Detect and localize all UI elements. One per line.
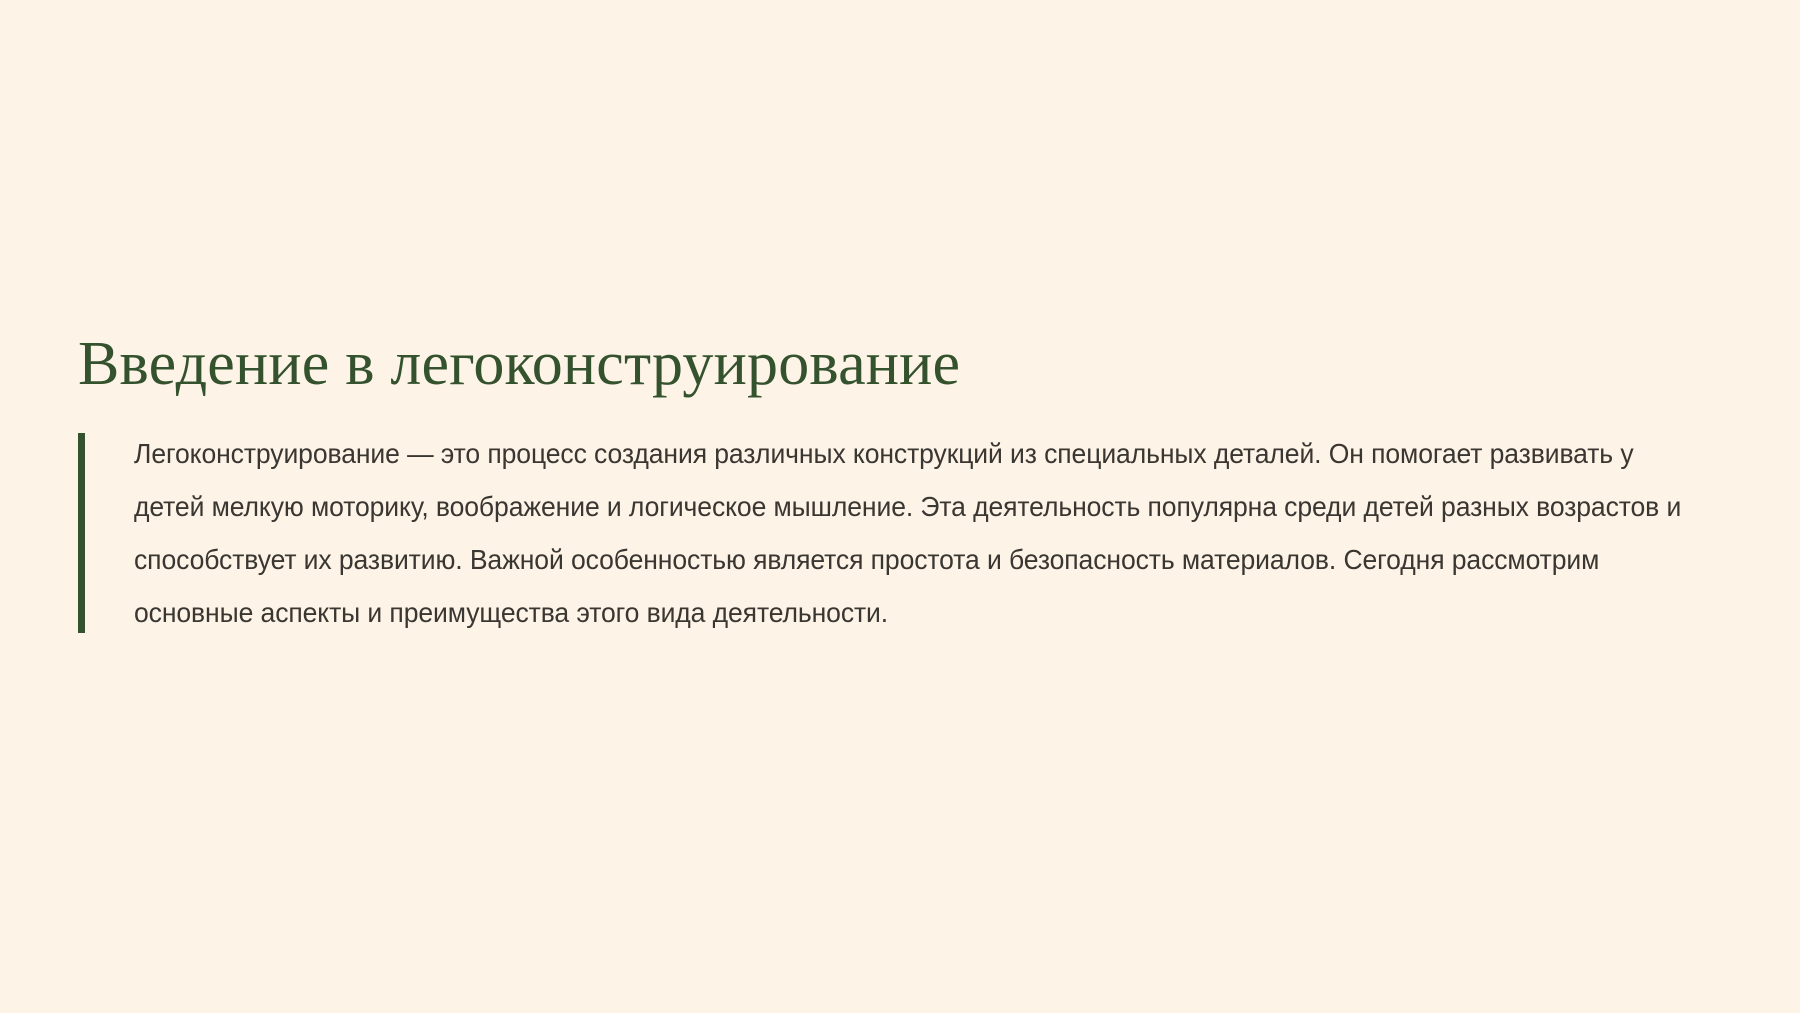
accent-bar [78, 433, 85, 633]
body-paragraph: Легоконструирование — это процесс создан… [134, 427, 1682, 639]
slide-canvas: Введение в легоконструирование Легоконст… [0, 0, 1800, 1013]
slide-content: Введение в легоконструирование Легоконст… [78, 330, 1738, 639]
quote-block: Легоконструирование — это процесс создан… [78, 427, 1738, 639]
page-title: Введение в легоконструирование [78, 330, 1738, 399]
